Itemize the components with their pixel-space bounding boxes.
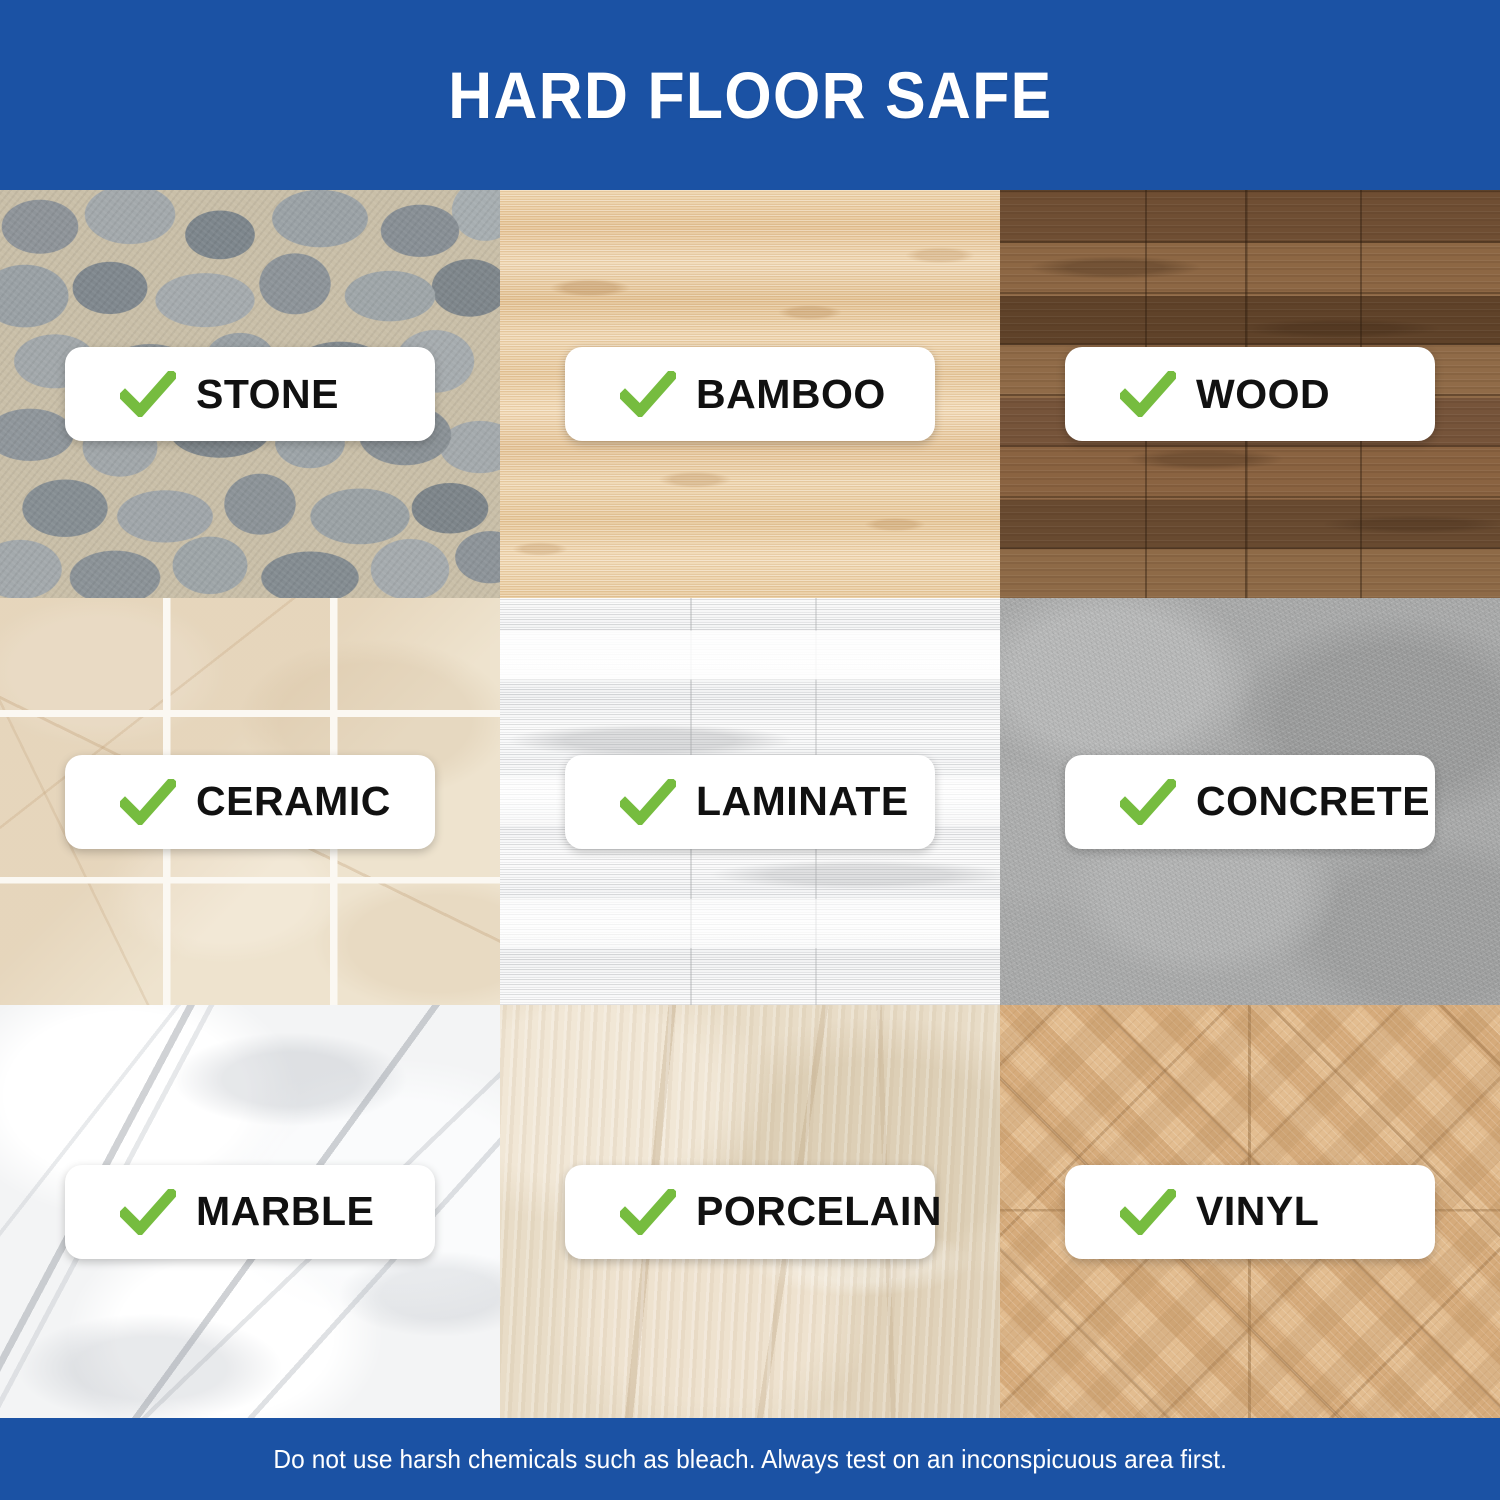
floor-cell-ceramic: CERAMIC — [0, 598, 500, 1005]
floor-label-pill-concrete: CONCRETE — [1065, 755, 1435, 849]
green-check-icon — [1120, 371, 1176, 417]
floor-label-pill-bamboo: BAMBOO — [565, 347, 935, 441]
floor-label-text: VINYL — [1196, 1191, 1319, 1232]
floor-label-text: BAMBOO — [696, 374, 886, 415]
floor-label-text: CERAMIC — [196, 781, 391, 822]
green-check-icon — [620, 1189, 676, 1235]
floor-label-pill-wood: WOOD — [1065, 347, 1435, 441]
floor-label-text: LAMINATE — [696, 781, 909, 822]
floor-label-pill-laminate: LAMINATE — [565, 755, 935, 849]
green-check-icon — [1120, 779, 1176, 825]
floor-label-text: STONE — [196, 374, 339, 415]
floor-label-pill-porcelain: PORCELAIN — [565, 1165, 935, 1259]
floor-cell-vinyl: VINYL — [1000, 1005, 1500, 1418]
green-check-icon — [120, 1189, 176, 1235]
floor-type-grid: STONE BAMBOO WOOD CERAMIC — [0, 190, 1500, 1418]
floor-label-pill-marble: MARBLE — [65, 1165, 435, 1259]
floor-label-pill-stone: STONE — [65, 347, 435, 441]
floor-cell-marble: MARBLE — [0, 1005, 500, 1418]
green-check-icon — [620, 371, 676, 417]
floor-label-text: MARBLE — [196, 1191, 374, 1232]
floor-cell-wood: WOOD — [1000, 190, 1500, 598]
floor-cell-laminate: LAMINATE — [500, 598, 1000, 1005]
floor-label-text: WOOD — [1196, 374, 1330, 415]
green-check-icon — [120, 371, 176, 417]
floor-cell-bamboo: BAMBOO — [500, 190, 1000, 598]
floor-label-text: PORCELAIN — [696, 1191, 942, 1232]
floor-label-text: CONCRETE — [1196, 781, 1430, 822]
floor-cell-concrete: CONCRETE — [1000, 598, 1500, 1005]
floor-cell-stone: STONE — [0, 190, 500, 598]
floor-cell-porcelain: PORCELAIN — [500, 1005, 1000, 1418]
footer-banner: Do not use harsh chemicals such as bleac… — [0, 1418, 1500, 1500]
floor-label-pill-ceramic: CERAMIC — [65, 755, 435, 849]
green-check-icon — [120, 779, 176, 825]
floor-label-pill-vinyl: VINYL — [1065, 1165, 1435, 1259]
disclaimer-text: Do not use harsh chemicals such as bleac… — [273, 1444, 1227, 1475]
green-check-icon — [1120, 1189, 1176, 1235]
header-banner: HARD FLOOR SAFE — [0, 0, 1500, 190]
page-title: HARD FLOOR SAFE — [448, 62, 1052, 128]
green-check-icon — [620, 779, 676, 825]
